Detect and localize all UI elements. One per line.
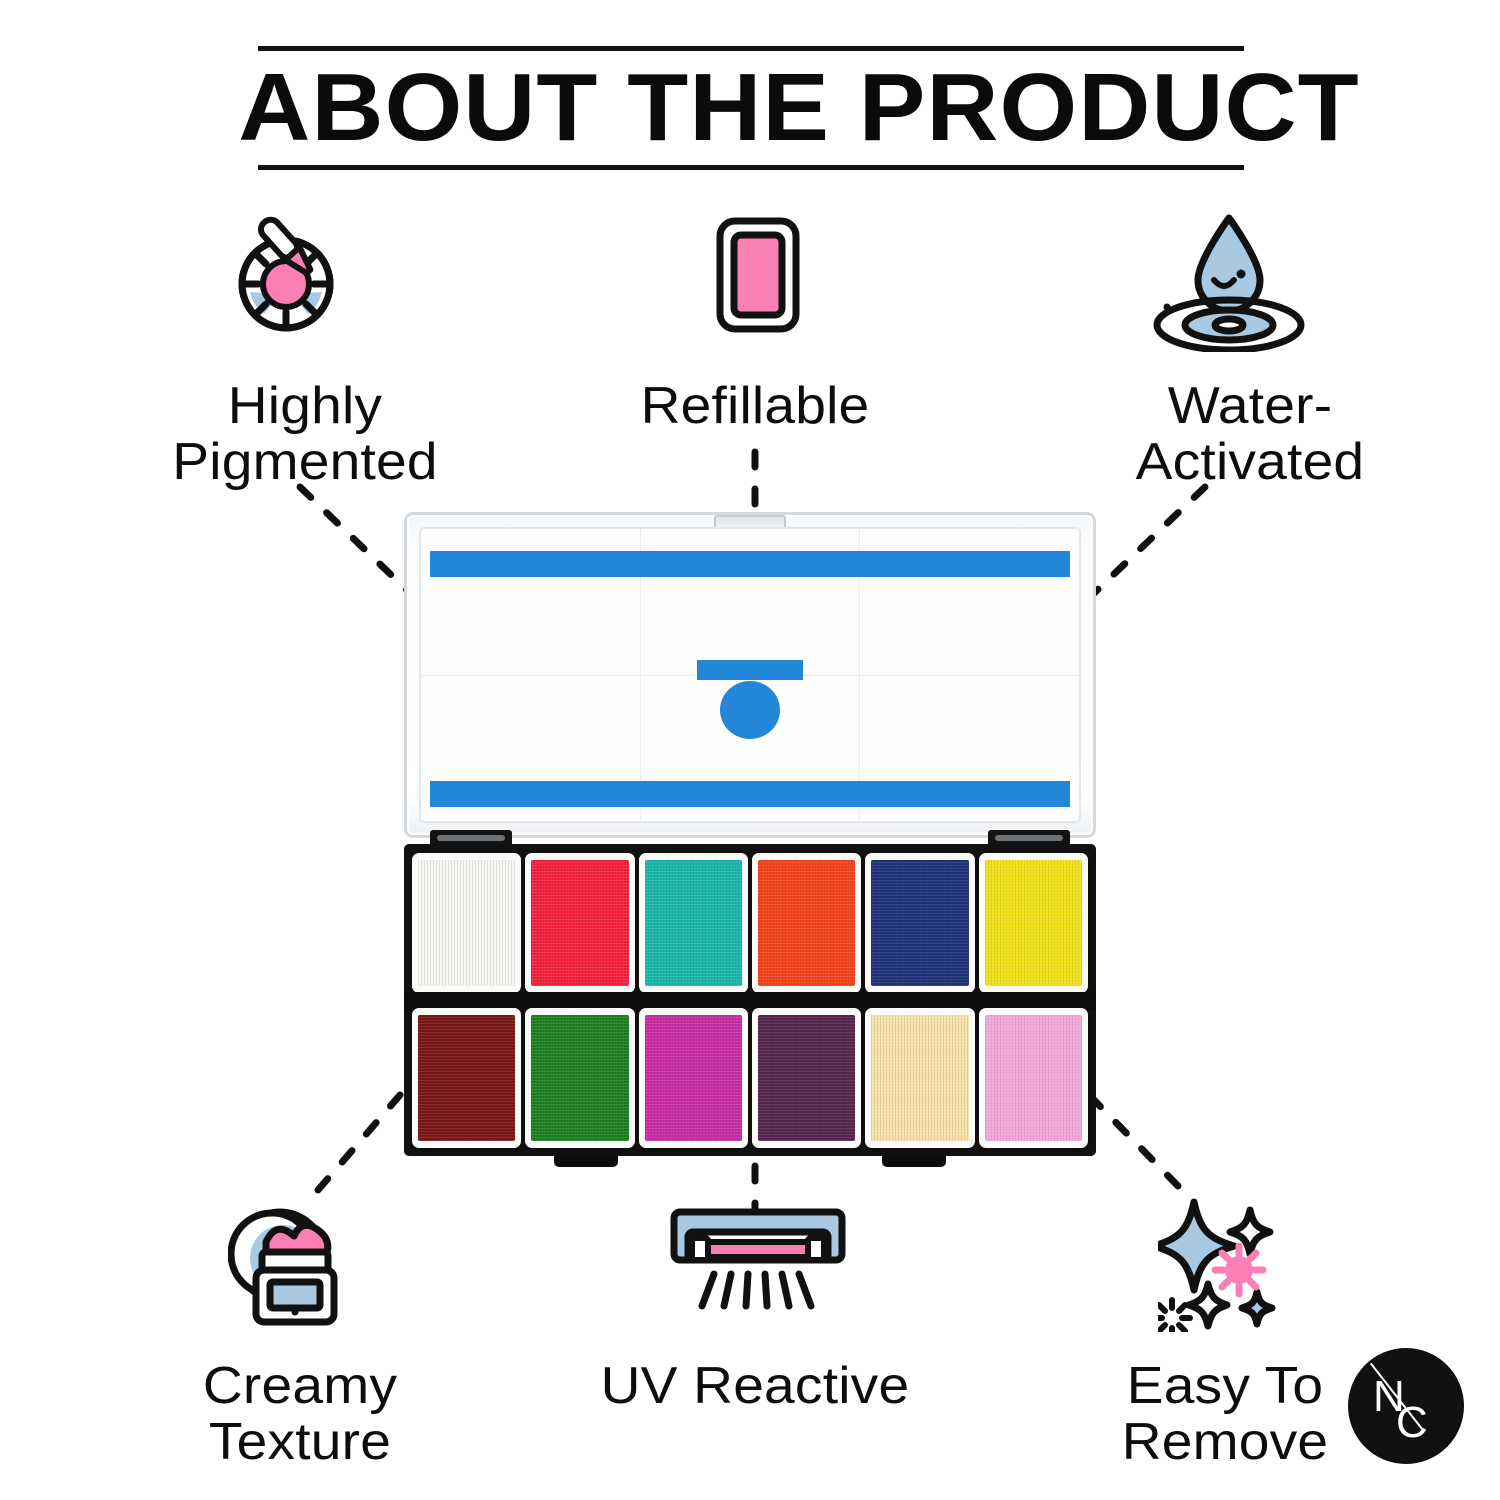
- header-rule-top: [258, 46, 1244, 51]
- color-pan-white: [412, 853, 521, 993]
- cream-jar-icon: [228, 1204, 363, 1339]
- color-swatch-teal: [645, 860, 742, 986]
- color-pan-cream: [865, 1008, 974, 1148]
- lid-stripe-top: [430, 551, 1070, 577]
- lid-center-dot: [720, 681, 780, 739]
- feature-label-uv-reactive: UV Reactive: [596, 1358, 914, 1414]
- water-droplet-ripple-icon: [1142, 212, 1317, 357]
- color-pan-dark-purple: [752, 1008, 861, 1148]
- case-foot-left: [554, 1155, 618, 1167]
- color-pan-green: [525, 1008, 634, 1148]
- feature-label-water-activated: Water- Activated: [1080, 378, 1419, 490]
- page-title: ABOUT THE PRODUCT: [238, 55, 1263, 163]
- sparkles-icon: [1158, 1192, 1293, 1337]
- infographic-page: ABOUT THE PRODUCT: [0, 0, 1500, 1500]
- color-pan-dark-maroon: [412, 1008, 521, 1148]
- case-foot-right: [882, 1155, 946, 1167]
- color-swatch-red: [531, 860, 628, 986]
- color-swatch-white: [418, 860, 515, 986]
- lid-center-bar: [697, 660, 803, 680]
- pan-row-bottom: [412, 1008, 1088, 1148]
- color-swatch-green: [531, 1015, 628, 1141]
- color-swatch-dark-maroon: [418, 1015, 515, 1141]
- feature-label-highly-pigmented: Highly Pigmented: [141, 378, 470, 490]
- color-swatch-orange-red: [758, 860, 855, 986]
- color-swatch-yellow: [985, 860, 1082, 986]
- color-pan-light-pink: [979, 1008, 1088, 1148]
- palette-case: [404, 844, 1096, 1156]
- feature-label-refillable: Refillable: [612, 378, 898, 434]
- lid-mixing-surface: [419, 527, 1081, 823]
- color-pan-magenta: [639, 1008, 748, 1148]
- connector-water-activated: [1090, 487, 1205, 597]
- connector-creamy-texture: [318, 1095, 400, 1190]
- page-header: ABOUT THE PRODUCT: [258, 46, 1244, 170]
- brand-logo: N C: [1348, 1348, 1464, 1464]
- color-swatch-magenta: [645, 1015, 742, 1141]
- color-pan-navy-blue: [865, 853, 974, 993]
- feature-label-creamy-texture: Creamy Texture: [136, 1358, 465, 1470]
- color-pan-yellow: [979, 853, 1088, 993]
- color-swatch-navy-blue: [871, 860, 968, 986]
- color-wheel-brush-icon: [228, 212, 358, 347]
- color-swatch-cream: [871, 1015, 968, 1141]
- product-palette: [404, 503, 1096, 1163]
- uv-lamp-icon: [668, 1206, 848, 1321]
- color-swatch-dark-purple: [758, 1015, 855, 1141]
- lid-stripe-bottom: [430, 781, 1070, 807]
- pan-row-top: [412, 853, 1088, 993]
- refill-pan-icon: [712, 215, 804, 340]
- header-rule-bottom: [258, 165, 1244, 170]
- color-pan-teal: [639, 853, 748, 993]
- palette-lid: [404, 512, 1096, 838]
- feature-label-easy-to-remove: Easy To Remove: [1071, 1358, 1378, 1470]
- color-pan-red: [525, 853, 634, 993]
- logo-letter-c: C: [1396, 1401, 1428, 1445]
- connector-easy-to-remove: [1092, 1098, 1178, 1186]
- color-swatch-light-pink: [985, 1015, 1082, 1141]
- connector-highly-pigmented: [300, 487, 414, 597]
- color-pan-orange-red: [752, 853, 861, 993]
